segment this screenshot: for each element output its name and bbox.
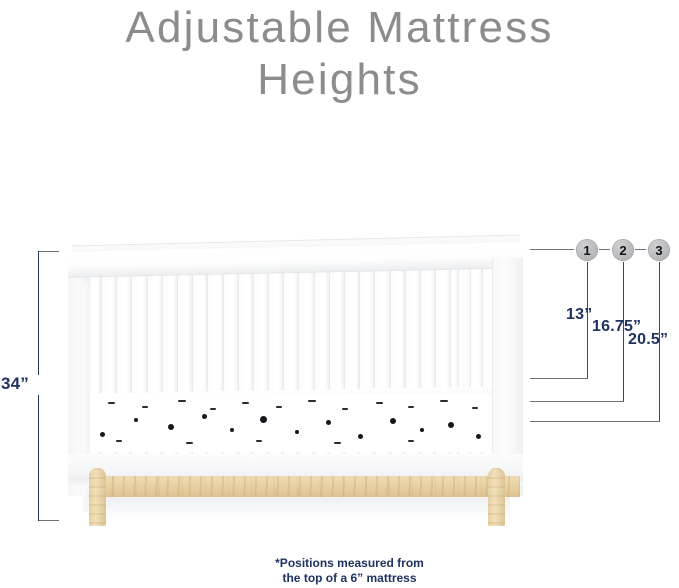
dimension-line-lower <box>38 395 39 521</box>
dimension-tick-top <box>38 251 59 252</box>
wood-base-rail <box>90 476 520 497</box>
dimension-line-upper <box>38 251 39 375</box>
wood-leg-right <box>488 468 505 526</box>
infographic-canvas: Adjustable Mattress Heights <box>0 0 679 588</box>
position-marker-2[interactable]: 2 <box>612 239 634 261</box>
overall-height-dimension: 34” <box>0 0 60 588</box>
marker-3-elbow-line <box>530 421 660 422</box>
marker-2-leader-line <box>599 249 610 250</box>
measurement-label-3: 20.5” <box>628 331 668 349</box>
marker-2-elbow-line <box>530 401 624 402</box>
crib-illustration <box>60 232 530 532</box>
marker-1-leader-line <box>530 249 574 250</box>
floor-shadow <box>100 494 510 520</box>
page-title: Adjustable Mattress Heights <box>0 0 679 106</box>
overall-height-label: 34” <box>1 374 29 394</box>
position-marker-1[interactable]: 1 <box>576 239 598 261</box>
dimension-tick-bottom <box>38 520 59 521</box>
position-marker-3[interactable]: 3 <box>648 239 670 261</box>
mattress-with-sheet <box>90 394 498 452</box>
footnote-text: *Positions measured from the top of a 6”… <box>0 556 679 586</box>
mattress-position-markers: 1 2 3 13” 16.75” 20.5” <box>530 225 679 455</box>
marker-1-elbow-line <box>530 378 588 379</box>
wood-leg-left <box>89 468 106 526</box>
measurement-label-1: 13” <box>566 306 592 324</box>
marker-3-leader-line <box>635 249 646 250</box>
